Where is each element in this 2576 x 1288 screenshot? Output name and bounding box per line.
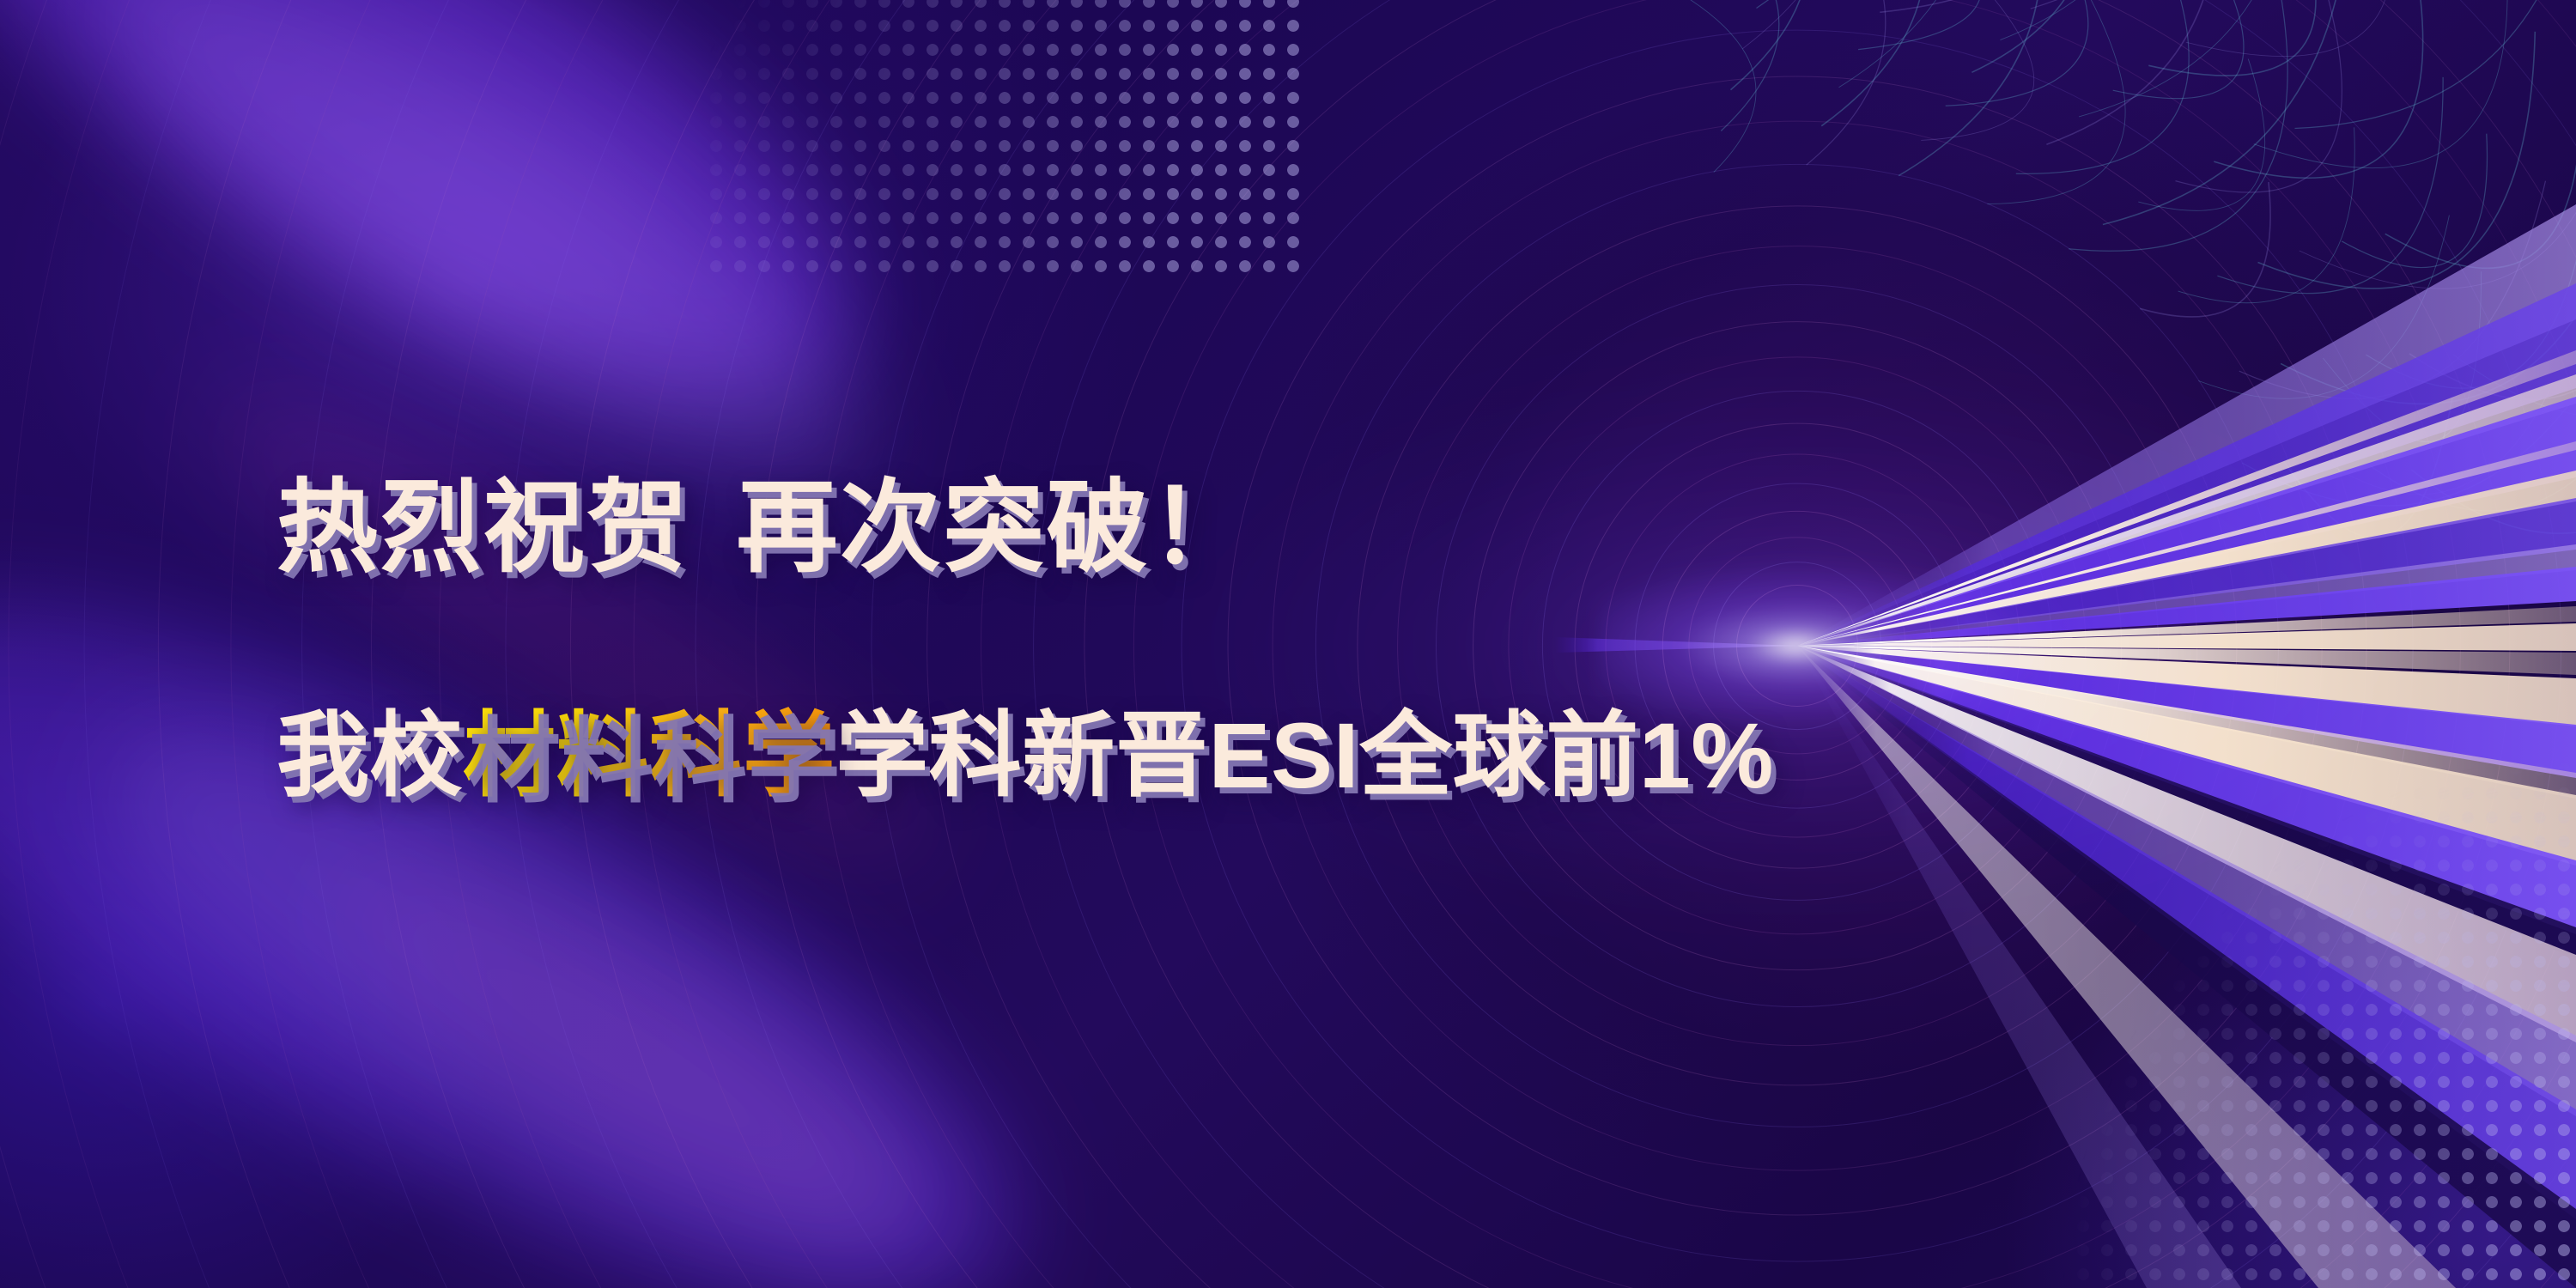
headline-line-2: 我校材料科学材料科学学科新晋ESI全球前1% — [276, 709, 1774, 802]
headline-line2-prefix: 我校 — [276, 703, 463, 807]
headline-line2-suffix: 学科新晋ESI全球前1% — [835, 703, 1774, 807]
headline-block: 热烈祝贺再次突破！ 我校材料科学材料科学学科新晋ESI全球前1% — [0, 0, 2576, 1288]
headline-line-1: 热烈祝贺再次突破！ — [276, 477, 1253, 579]
celebration-banner: 热烈祝贺再次突破！ 我校材料科学材料科学学科新晋ESI全球前1% 我校材料科学学… — [0, 0, 2576, 1288]
headline-line1-part1: 热烈祝贺 — [276, 471, 690, 585]
discipline-highlight: 材料科学材料科学 — [463, 709, 835, 802]
discipline-highlight-text: 材料科学 — [463, 703, 835, 807]
headline-line1-part2: 再次突破！ — [736, 471, 1253, 585]
